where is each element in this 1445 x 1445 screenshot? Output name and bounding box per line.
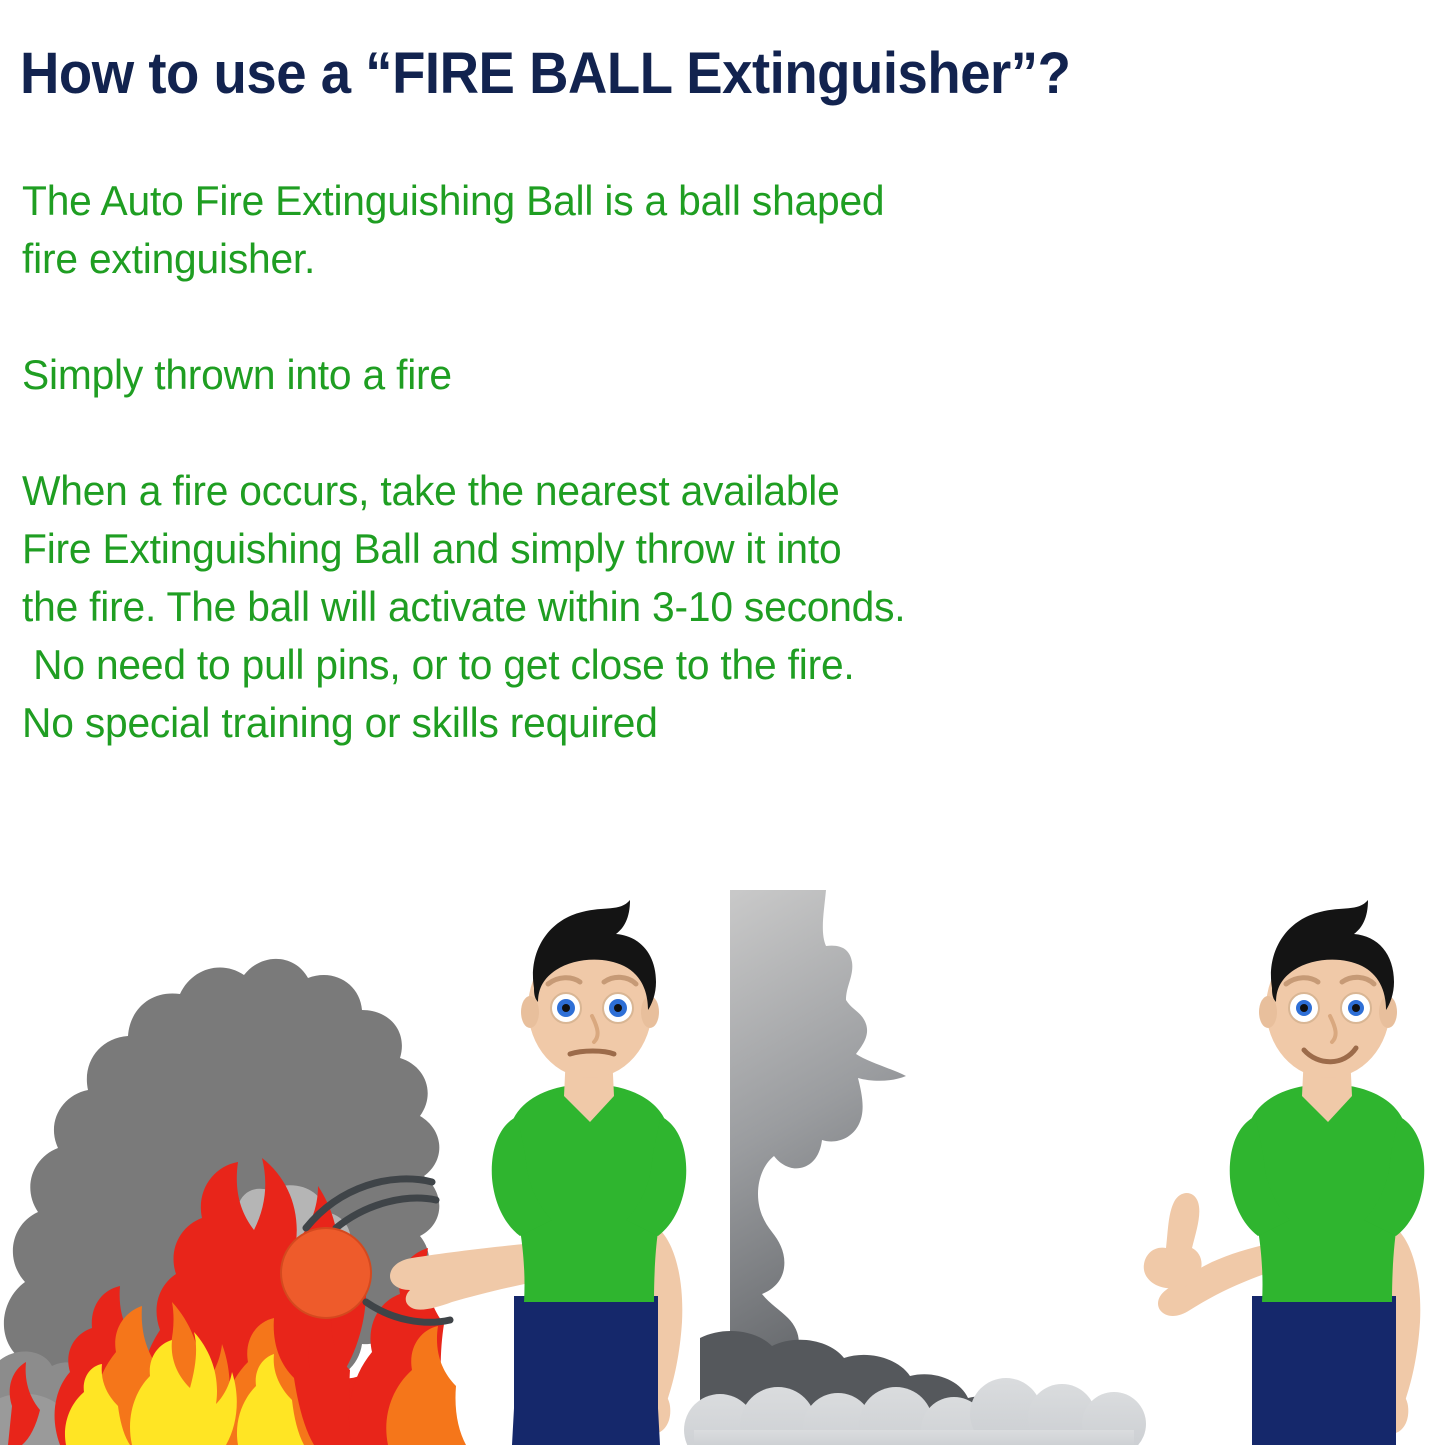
body-spacer	[22, 404, 1186, 462]
eye-left-pupil	[562, 1004, 570, 1012]
body-spacer	[22, 288, 1186, 346]
fire-extinguisher-ball	[281, 1228, 371, 1318]
ear-left	[1259, 996, 1277, 1028]
body-line: Fire Extinguishing Ball and simply throw…	[22, 520, 1186, 578]
body-line: Simply thrown into a fire	[22, 346, 1186, 404]
pants-body	[514, 1296, 658, 1445]
body-line: When a fire occurs, take the nearest ava…	[22, 462, 1186, 520]
body-line: fire extinguisher.	[22, 230, 1186, 288]
person-thumbs-up	[1144, 900, 1425, 1445]
eye-right-pupil	[1352, 1004, 1360, 1012]
hand-thumbs-up	[1144, 1193, 1202, 1288]
body-text-block: The Auto Fire Extinguishing Ball is a ba…	[22, 172, 1186, 752]
slide-canvas: How to use a “FIRE BALL Extinguisher”? T…	[0, 0, 1445, 1445]
body-line: The Auto Fire Extinguishing Ball is a ba…	[22, 172, 1186, 230]
smoke-plume-right	[684, 890, 1146, 1445]
pants	[1252, 1296, 1396, 1445]
body-line: No need to pull pins, or to get close to…	[22, 636, 1186, 694]
ear-left	[521, 996, 539, 1028]
body-line: the fire. The ball will activate within …	[22, 578, 1186, 636]
body-line: No special training or skills required	[22, 694, 1186, 752]
eye-left-pupil	[1300, 1004, 1308, 1012]
page-title: How to use a “FIRE BALL Extinguisher”?	[20, 40, 1280, 107]
eye-right-pupil	[614, 1004, 622, 1012]
illustration	[0, 890, 1445, 1445]
